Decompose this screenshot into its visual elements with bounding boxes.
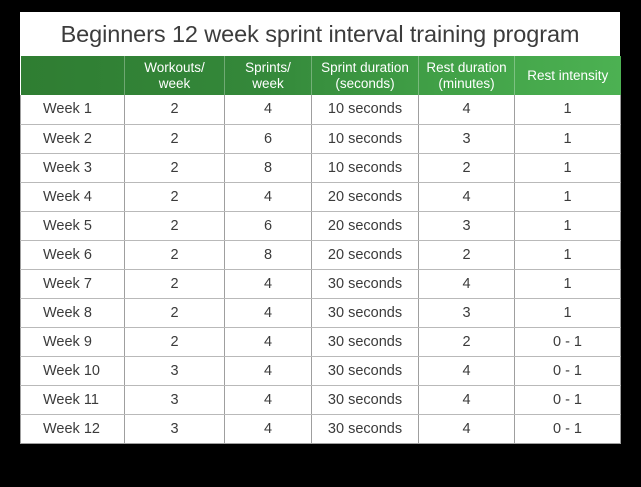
table-row: Week 103430 seconds40 - 1 xyxy=(21,356,621,385)
cell-sprints_per_week: 4 xyxy=(225,385,312,414)
column-header-sprints_per_week[interactable]: Sprints/ week xyxy=(225,56,312,95)
cell-sprints_per_week: 4 xyxy=(225,356,312,385)
table-row: Week 113430 seconds40 - 1 xyxy=(21,385,621,414)
cell-week: Week 8 xyxy=(21,298,125,327)
cell-rest_duration: 4 xyxy=(419,414,515,443)
training-program-table: Workouts/ weekSprints/ weekSprint durati… xyxy=(20,56,621,444)
table-row: Week 62820 seconds21 xyxy=(21,240,621,269)
cell-sprint_duration: 10 seconds xyxy=(312,124,419,153)
table-row: Week 52620 seconds31 xyxy=(21,211,621,240)
cell-workouts_per_week: 2 xyxy=(125,124,225,153)
cell-workouts_per_week: 2 xyxy=(125,153,225,182)
cell-workouts_per_week: 2 xyxy=(125,269,225,298)
cell-week: Week 10 xyxy=(21,356,125,385)
cell-workouts_per_week: 2 xyxy=(125,211,225,240)
cell-rest_duration: 3 xyxy=(419,211,515,240)
cell-sprints_per_week: 4 xyxy=(225,298,312,327)
cell-workouts_per_week: 2 xyxy=(125,327,225,356)
table-row: Week 22610 seconds31 xyxy=(21,124,621,153)
cell-sprint_duration: 20 seconds xyxy=(312,211,419,240)
cell-rest_intensity: 1 xyxy=(515,298,621,327)
cell-rest_intensity: 0 - 1 xyxy=(515,385,621,414)
cell-sprint_duration: 30 seconds xyxy=(312,385,419,414)
cell-rest_intensity: 1 xyxy=(515,182,621,211)
cell-sprint_duration: 30 seconds xyxy=(312,269,419,298)
cell-rest_duration: 2 xyxy=(419,240,515,269)
cell-rest_intensity: 1 xyxy=(515,269,621,298)
cell-rest_duration: 4 xyxy=(419,182,515,211)
cell-rest_intensity: 0 - 1 xyxy=(515,356,621,385)
cell-sprint_duration: 30 seconds xyxy=(312,356,419,385)
cell-sprint_duration: 30 seconds xyxy=(312,298,419,327)
cell-workouts_per_week: 3 xyxy=(125,356,225,385)
table-row: Week 123430 seconds40 - 1 xyxy=(21,414,621,443)
cell-week: Week 9 xyxy=(21,327,125,356)
cell-rest_intensity: 1 xyxy=(515,153,621,182)
cell-sprint_duration: 10 seconds xyxy=(312,95,419,124)
cell-sprints_per_week: 6 xyxy=(225,211,312,240)
cell-week: Week 1 xyxy=(21,95,125,124)
cell-sprint_duration: 10 seconds xyxy=(312,153,419,182)
cell-sprints_per_week: 4 xyxy=(225,414,312,443)
cell-rest_intensity: 1 xyxy=(515,211,621,240)
cell-sprints_per_week: 6 xyxy=(225,124,312,153)
cell-rest_duration: 4 xyxy=(419,269,515,298)
column-header-sprint_duration[interactable]: Sprint duration (seconds) xyxy=(312,56,419,95)
table-header: Workouts/ weekSprints/ weekSprint durati… xyxy=(21,56,621,95)
table-body: Week 12410 seconds41Week 22610 seconds31… xyxy=(21,95,621,443)
training-program-card: Beginners 12 week sprint interval traini… xyxy=(20,12,620,443)
cell-sprints_per_week: 8 xyxy=(225,153,312,182)
cell-week: Week 5 xyxy=(21,211,125,240)
cell-sprints_per_week: 4 xyxy=(225,269,312,298)
cell-rest_duration: 4 xyxy=(419,385,515,414)
cell-week: Week 4 xyxy=(21,182,125,211)
table-row: Week 72430 seconds41 xyxy=(21,269,621,298)
column-header-workouts_per_week[interactable]: Workouts/ week xyxy=(125,56,225,95)
cell-workouts_per_week: 2 xyxy=(125,182,225,211)
cell-rest_duration: 3 xyxy=(419,124,515,153)
cell-sprints_per_week: 8 xyxy=(225,240,312,269)
cell-rest_duration: 4 xyxy=(419,356,515,385)
cell-workouts_per_week: 3 xyxy=(125,385,225,414)
table-row: Week 82430 seconds31 xyxy=(21,298,621,327)
table-row: Week 42420 seconds41 xyxy=(21,182,621,211)
cell-rest_duration: 2 xyxy=(419,153,515,182)
cell-sprint_duration: 20 seconds xyxy=(312,240,419,269)
cell-sprint_duration: 30 seconds xyxy=(312,414,419,443)
table-row: Week 12410 seconds41 xyxy=(21,95,621,124)
table-row: Week 32810 seconds21 xyxy=(21,153,621,182)
cell-week: Week 6 xyxy=(21,240,125,269)
screen-canvas: Beginners 12 week sprint interval traini… xyxy=(0,0,641,487)
cell-sprint_duration: 20 seconds xyxy=(312,182,419,211)
cell-sprints_per_week: 4 xyxy=(225,182,312,211)
cell-rest_duration: 2 xyxy=(419,327,515,356)
cell-week: Week 2 xyxy=(21,124,125,153)
cell-workouts_per_week: 3 xyxy=(125,414,225,443)
cell-sprint_duration: 30 seconds xyxy=(312,327,419,356)
cell-week: Week 12 xyxy=(21,414,125,443)
cell-rest_duration: 3 xyxy=(419,298,515,327)
page-title: Beginners 12 week sprint interval traini… xyxy=(20,12,620,56)
cell-sprints_per_week: 4 xyxy=(225,327,312,356)
cell-week: Week 7 xyxy=(21,269,125,298)
cell-workouts_per_week: 2 xyxy=(125,298,225,327)
cell-week: Week 11 xyxy=(21,385,125,414)
column-header-week[interactable] xyxy=(21,56,125,95)
table-row: Week 92430 seconds20 - 1 xyxy=(21,327,621,356)
cell-rest_intensity: 1 xyxy=(515,95,621,124)
cell-rest_intensity: 0 - 1 xyxy=(515,327,621,356)
cell-workouts_per_week: 2 xyxy=(125,240,225,269)
cell-rest_duration: 4 xyxy=(419,95,515,124)
cell-week: Week 3 xyxy=(21,153,125,182)
cell-sprints_per_week: 4 xyxy=(225,95,312,124)
column-header-rest_duration[interactable]: Rest duration (minutes) xyxy=(419,56,515,95)
cell-rest_intensity: 0 - 1 xyxy=(515,414,621,443)
column-header-rest_intensity[interactable]: Rest intensity xyxy=(515,56,621,95)
cell-rest_intensity: 1 xyxy=(515,124,621,153)
table-header-row: Workouts/ weekSprints/ weekSprint durati… xyxy=(21,56,621,95)
cell-workouts_per_week: 2 xyxy=(125,95,225,124)
cell-rest_intensity: 1 xyxy=(515,240,621,269)
